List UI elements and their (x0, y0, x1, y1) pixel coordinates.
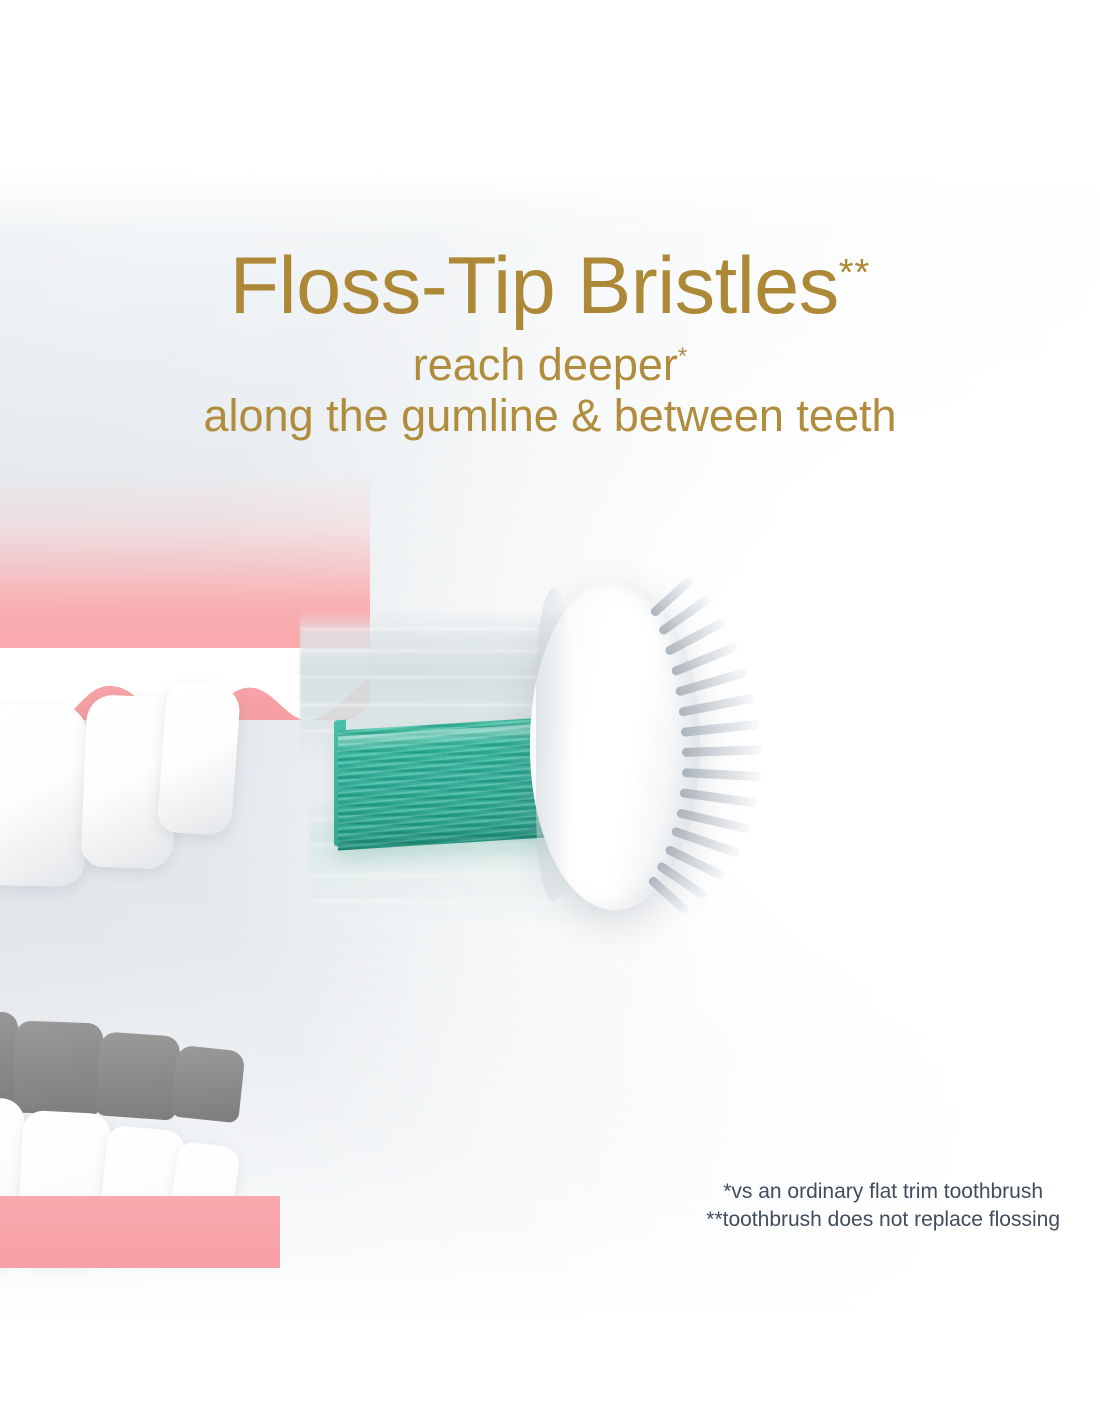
footnote-line-1: *vs an ordinary flat trim toothbrush (706, 1178, 1060, 1206)
tooth-upper (0, 703, 88, 887)
background-top-white (0, 0, 1100, 175)
footnote-block: *vs an ordinary flat trim toothbrush **t… (706, 1178, 1060, 1235)
footnote-line-2: **toothbrush does not replace flossing (706, 1206, 1060, 1234)
page-title-text: Floss-Tip Bristles (230, 241, 839, 331)
background-top-fade (0, 150, 1100, 240)
product-feature-graphic: Floss-Tip Bristles** reach deeper* along… (0, 0, 1100, 1422)
lower-gumline-scallop (0, 1186, 280, 1220)
headline-block: Floss-Tip Bristles** reach deeper* along… (0, 246, 1100, 440)
subheading-superscript: * (678, 343, 687, 370)
lower-arch-illustration (0, 1000, 370, 1300)
subheading-line-1: reach deeper* (0, 341, 1100, 390)
toothbrush-head-illustration (300, 570, 820, 960)
brush-head-rim-shading (536, 588, 572, 902)
page-title: Floss-Tip Bristles** (0, 246, 1100, 327)
page-title-superscript: ** (839, 252, 871, 294)
tooth-upper (157, 682, 241, 837)
subheading-line-1-text: reach deeper (413, 339, 678, 390)
subheading-line-2: along the gumline & between teeth (0, 392, 1100, 441)
subheading-block: reach deeper* along the gumline & betwee… (0, 341, 1100, 440)
